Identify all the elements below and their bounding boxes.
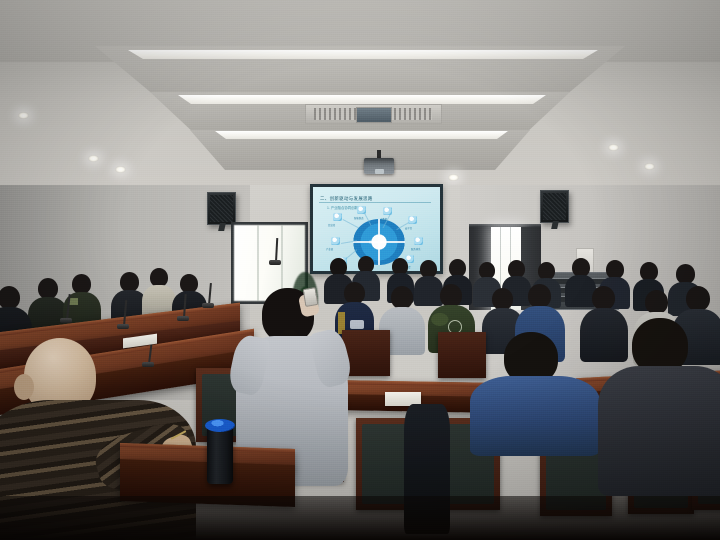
microphone-base bbox=[202, 303, 214, 308]
torso bbox=[598, 366, 720, 496]
microphone-base bbox=[177, 316, 189, 321]
downlight bbox=[608, 144, 619, 151]
light-strip-middle bbox=[178, 95, 546, 104]
projector-icon bbox=[364, 158, 394, 174]
downlight bbox=[644, 163, 655, 170]
microphone-base bbox=[60, 318, 72, 323]
slide-node bbox=[414, 237, 423, 245]
speaker-icon-left bbox=[207, 192, 236, 225]
floor-shadow bbox=[0, 496, 720, 540]
chair[interactable] bbox=[438, 332, 486, 378]
ear bbox=[14, 374, 34, 400]
slide-subheading: 1. 产业融合协同创新 bbox=[327, 205, 358, 210]
microphone-base bbox=[269, 260, 281, 265]
slide-node-label: 信息化 bbox=[328, 223, 335, 227]
thermos[interactable] bbox=[207, 426, 233, 484]
slide-center-label: 核心 bbox=[369, 240, 375, 244]
conference-room-photo: 二、创新驱动与发展思路 1. 产业融合协同创新 信息化 智能制造 大数据 云平台… bbox=[0, 0, 720, 540]
torso bbox=[470, 376, 600, 456]
microphone-base bbox=[142, 362, 154, 367]
ceiling bbox=[0, 0, 720, 185]
slide-node-label: 产业链 bbox=[326, 247, 333, 251]
slide-node bbox=[331, 237, 340, 245]
smartphone[interactable] bbox=[303, 287, 319, 307]
ac-vent-icon bbox=[305, 104, 442, 124]
downlight bbox=[115, 166, 126, 173]
downlight bbox=[448, 174, 459, 181]
slide-node bbox=[333, 213, 342, 221]
speaker-icon-right bbox=[540, 190, 569, 223]
light-strip-inner bbox=[215, 131, 508, 139]
shoulder-insignia bbox=[69, 298, 78, 305]
downlight bbox=[88, 155, 99, 162]
light-strip-outer bbox=[128, 50, 598, 59]
screen-surface: 二、创新驱动与发展思路 1. 产业融合协同创新 信息化 智能制造 大数据 云平台… bbox=[313, 187, 440, 271]
thermos-lid bbox=[205, 419, 235, 432]
jacket-logo-patch bbox=[350, 320, 364, 329]
slide-node-label: 云平台 bbox=[405, 226, 412, 230]
slide-node-label: 服务体系 bbox=[411, 247, 421, 251]
downlight bbox=[18, 112, 29, 119]
slide-divider bbox=[319, 202, 431, 203]
microphone-base bbox=[117, 324, 129, 329]
slide-node-label: 智能制造 bbox=[354, 216, 364, 220]
